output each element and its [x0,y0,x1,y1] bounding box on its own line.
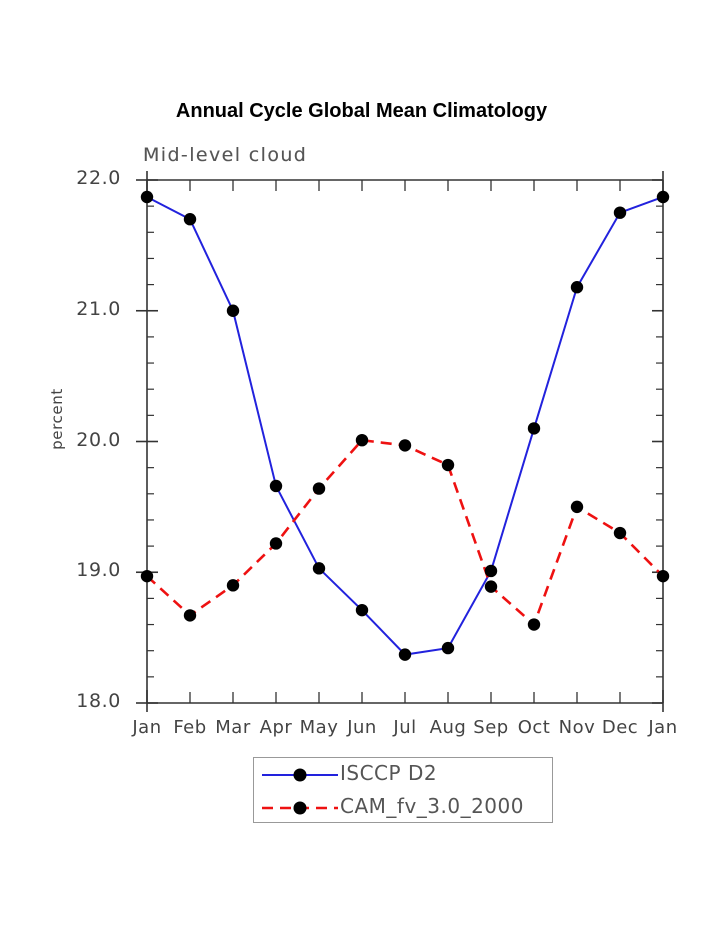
data-point-marker [614,206,626,218]
data-point-marker [141,191,153,203]
data-point-marker [442,459,454,471]
data-series [141,191,669,661]
legend-label-1: CAM_fv_3.0_2000 [340,794,524,818]
data-point-marker [270,480,282,492]
data-point-marker [141,570,153,582]
data-point-marker [399,439,411,451]
data-point-marker [657,191,669,203]
data-point-marker [442,642,454,654]
series-line-0 [147,197,663,655]
data-point-marker [356,604,368,616]
data-point-marker [184,213,196,225]
series-line-1 [147,440,663,624]
legend-line-sample-1 [262,791,338,824]
data-point-marker [399,648,411,660]
data-point-marker [614,527,626,539]
legend-label-0: ISCCP D2 [340,761,437,785]
data-point-marker [313,562,325,574]
legend-entry-0[interactable]: ISCCP D2 [254,758,554,791]
data-point-marker [528,422,540,434]
data-point-marker [571,501,583,513]
data-point-marker [227,579,239,591]
data-point-marker [657,570,669,582]
data-point-marker [227,305,239,317]
data-point-marker [356,434,368,446]
data-point-marker [270,537,282,549]
chart-figure: Annual Cycle Global Mean Climatology Mid… [0,0,723,935]
legend-line-sample-0 [262,758,338,791]
data-point-marker [485,565,497,577]
data-point-marker [528,618,540,630]
legend-entry-1[interactable]: CAM_fv_3.0_2000 [254,791,554,824]
data-point-marker [313,482,325,494]
data-point-marker [571,281,583,293]
chart-legend: ISCCP D2 CAM_fv_3.0_2000 [253,757,553,823]
data-point-marker [184,609,196,621]
data-point-marker [485,580,497,592]
axes [136,171,663,712]
